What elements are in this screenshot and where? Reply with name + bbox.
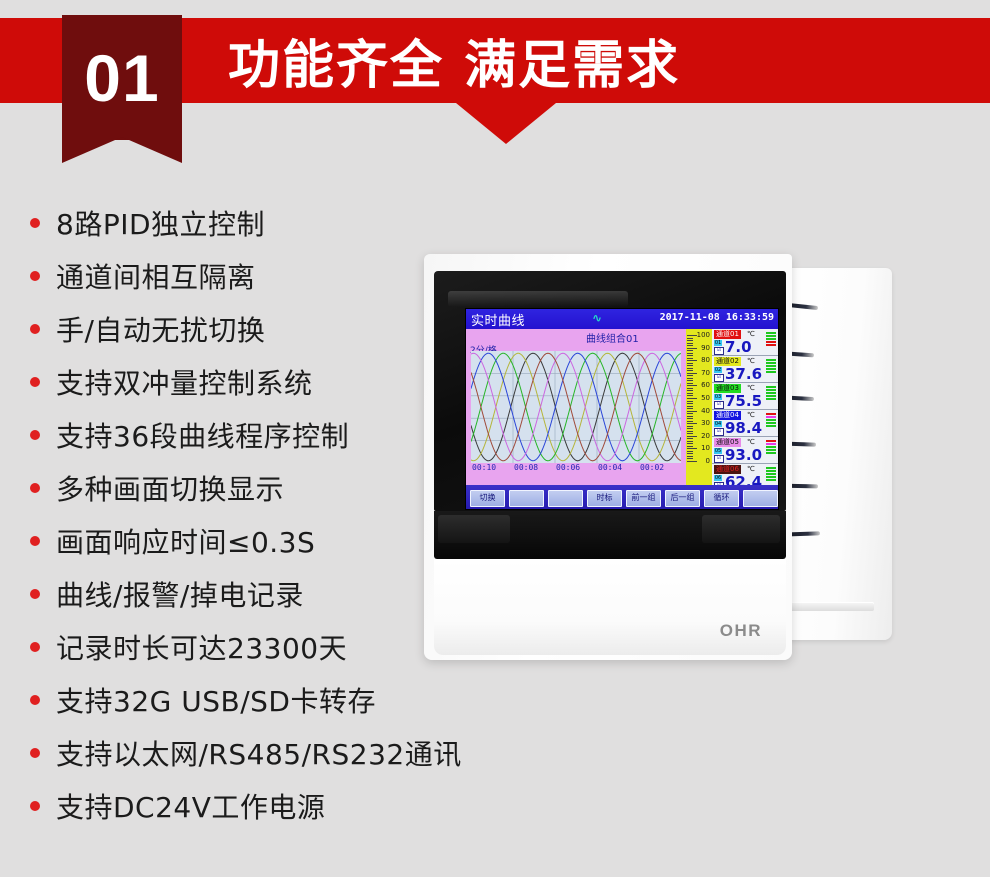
lcd-datetime: 2017-11-08 16:33:59 — [660, 312, 774, 323]
feature-item: 支持36段曲线程序控制 — [30, 408, 450, 461]
port-cover-right[interactable] — [702, 515, 780, 543]
channel-bargraph — [766, 467, 776, 482]
time-tick-label: 00:10 — [472, 463, 496, 472]
bargraph-segment — [766, 368, 776, 370]
feature-item: 曲线/报警/掉电记录 — [30, 567, 450, 620]
lcd-body: 2分/格 曲线组合01 00:1000:0800:0600:0400:02 01… — [466, 329, 778, 485]
bargraph-segment — [766, 470, 776, 472]
softkey-button-8[interactable] — [743, 490, 778, 507]
channel-value: 75.5 — [725, 392, 762, 410]
channel-bargraph — [766, 440, 776, 455]
feature-text: 支持以太网/RS485/RS232通讯 — [56, 733, 462, 773]
chart-header-band — [466, 329, 681, 351]
bargraph-segment — [766, 341, 776, 343]
ruler-minor-tick — [687, 388, 693, 389]
ruler-minor-tick — [687, 423, 693, 424]
ruler-minor-tick — [687, 353, 693, 354]
softkey-button-3[interactable] — [548, 490, 583, 507]
channel-row[interactable]: 通道02℃02☑37.6 — [712, 356, 778, 383]
channel-panel: 通道01℃01☑7.0通道02℃02☑37.6通道03℃03☑75.5通道04℃… — [712, 329, 778, 485]
channel-unit: ℃ — [747, 438, 755, 446]
channel-unit: ℃ — [747, 330, 755, 338]
bargraph-segment — [766, 452, 776, 454]
value-axis-ruler: 0102030405060708090100 — [686, 329, 712, 485]
port-cover-left[interactable] — [438, 515, 510, 543]
softkey-button-6[interactable]: 后一组 — [665, 490, 700, 507]
channel-index-badge: 03 — [714, 394, 722, 400]
ruler-minor-tick — [687, 393, 693, 394]
ruler-minor-tick — [687, 338, 693, 339]
feature-item: 支持32G USB/SD卡转存 — [30, 673, 450, 726]
bullet-dot-icon — [30, 324, 40, 334]
bargraph-segment — [766, 467, 776, 469]
bargraph-segment — [766, 473, 776, 475]
feature-item: 多种画面切换显示 — [30, 461, 450, 514]
channel-value: 98.4 — [725, 419, 762, 437]
bargraph-segment — [766, 344, 776, 346]
bargraph-segment — [766, 440, 776, 442]
ruler-minor-tick — [687, 418, 693, 419]
channel-enable-checkbox-icon[interactable]: ☑ — [714, 455, 724, 463]
channel-unit: ℃ — [747, 357, 755, 365]
ruler-tick-label: 50 — [701, 394, 710, 402]
channel-unit: ℃ — [747, 384, 755, 392]
bargraph-segment — [766, 422, 776, 424]
feature-text: 多种画面切换显示 — [56, 468, 284, 508]
feature-text: 支持双冲量控制系统 — [56, 362, 313, 402]
ruler-minor-tick — [687, 340, 693, 341]
ruler-minor-tick — [687, 358, 693, 359]
channel-row[interactable]: 通道03℃03☑75.5 — [712, 383, 778, 410]
brand-logo: OHR — [720, 621, 762, 641]
channel-index-badge: 02 — [714, 367, 722, 373]
bargraph-segment — [766, 395, 776, 397]
device-front-bezel: 实时曲线 ∿ 2017-11-08 16:33:59 2分/格 曲线组合01 0… — [424, 254, 792, 660]
lcd-screen[interactable]: 实时曲线 ∿ 2017-11-08 16:33:59 2分/格 曲线组合01 0… — [465, 308, 779, 510]
channel-value: 93.0 — [725, 446, 762, 464]
ruler-minor-tick — [687, 363, 693, 364]
ruler-minor-tick — [687, 360, 693, 361]
device-bottom-panel: OHR — [434, 559, 786, 655]
channel-bargraph — [766, 359, 776, 374]
feature-item: 支持DC24V工作电源 — [30, 779, 450, 832]
channel-index-badge: 05 — [714, 448, 722, 454]
ruler-minor-tick — [687, 448, 693, 449]
ruler-minor-tick — [687, 365, 693, 366]
feature-text: 支持32G USB/SD卡转存 — [56, 680, 376, 720]
trend-curve — [471, 353, 681, 461]
ruler-minor-tick — [687, 403, 693, 404]
feature-item: 通道间相互隔离 — [30, 249, 450, 302]
time-tick-label: 00:04 — [598, 463, 622, 472]
ruler-minor-tick — [687, 373, 693, 374]
ruler-minor-tick — [687, 348, 693, 349]
bullet-dot-icon — [30, 695, 40, 705]
ruler-minor-tick — [687, 456, 693, 457]
bargraph-segment — [766, 398, 776, 400]
feature-item: 手/自动无扰切换 — [30, 302, 450, 355]
ruler-minor-tick — [687, 431, 693, 432]
ruler-minor-tick — [687, 406, 693, 407]
channel-value: 37.6 — [725, 365, 762, 383]
feature-text: 手/自动无扰切换 — [56, 309, 265, 349]
ruler-minor-tick — [687, 343, 693, 344]
feature-text: 支持36段曲线程序控制 — [56, 415, 349, 455]
feature-item: 8路PID独立控制 — [30, 196, 450, 249]
softkey-button-2[interactable] — [509, 490, 544, 507]
trend-curve — [471, 353, 681, 461]
ruler-minor-tick — [687, 436, 693, 437]
bargraph-segment — [766, 335, 776, 337]
trend-curve — [471, 353, 681, 461]
bargraph-segment — [766, 371, 776, 373]
ruler-tick-label: 20 — [701, 432, 710, 440]
ruler-minor-tick — [687, 453, 693, 454]
ruler-minor-tick — [687, 416, 693, 417]
feature-text: 通道间相互隔离 — [56, 256, 256, 296]
channel-enable-checkbox-icon[interactable]: ☑ — [714, 401, 724, 409]
ruler-tick-label: 80 — [701, 356, 710, 364]
ruler-minor-tick — [687, 443, 693, 444]
ruler-minor-tick — [687, 433, 693, 434]
ruler-tick-label: 60 — [701, 381, 710, 389]
bargraph-segment — [766, 365, 776, 367]
display-housing: 实时曲线 ∿ 2017-11-08 16:33:59 2分/格 曲线组合01 0… — [434, 271, 786, 511]
channel-unit: ℃ — [747, 411, 755, 419]
page-title: 功能齐全 满足需求 — [228, 18, 680, 103]
bargraph-segment — [766, 332, 776, 334]
bargraph-segment — [766, 386, 776, 388]
bargraph-segment — [766, 476, 776, 478]
ruler-minor-tick — [687, 385, 693, 386]
time-tick-label: 00:08 — [514, 463, 538, 472]
ruler-minor-tick — [687, 395, 693, 396]
bargraph-segment — [766, 449, 776, 451]
softkey-button-7[interactable]: 循环 — [704, 490, 739, 507]
bullet-dot-icon — [30, 536, 40, 546]
ruler-minor-tick — [687, 441, 693, 442]
feature-text: 支持DC24V工作电源 — [56, 786, 325, 826]
channel-enable-checkbox-icon[interactable]: ☑ — [714, 428, 724, 436]
ruler-tick-label: 70 — [701, 369, 710, 377]
ruler-minor-tick — [687, 421, 693, 422]
channel-value: 7.0 — [725, 338, 752, 356]
waveform-logo-icon: ∿ — [592, 311, 602, 325]
section-number: 01 — [62, 15, 182, 140]
banner-notch — [456, 103, 556, 144]
bullet-dot-icon — [30, 218, 40, 228]
channel-index-badge: 04 — [714, 421, 722, 427]
ruler-minor-tick — [687, 458, 693, 459]
softkey-button-4[interactable]: 时标 — [587, 490, 622, 507]
feature-text: 曲线/报警/掉电记录 — [56, 574, 304, 614]
housing-gloss — [448, 291, 628, 307]
ruler-minor-tick — [687, 355, 693, 356]
ruler-tick-label: 0 — [706, 457, 710, 465]
feature-item: 画面响应时间≤0.3S — [30, 514, 450, 567]
section-ribbon-tail — [62, 137, 182, 163]
bargraph-segment — [766, 416, 776, 418]
ruler-tick-label: 100 — [697, 331, 710, 339]
bargraph-segment — [766, 338, 776, 340]
bullet-dot-icon — [30, 430, 40, 440]
ruler-minor-tick — [687, 438, 693, 439]
ruler-minor-tick — [687, 401, 693, 402]
bargraph-segment — [766, 443, 776, 445]
bargraph-segment — [766, 425, 776, 427]
trend-plot[interactable] — [471, 351, 681, 463]
ruler-minor-tick — [687, 335, 693, 336]
bullet-dot-icon — [30, 748, 40, 758]
feature-text: 画面响应时间≤0.3S — [56, 521, 315, 561]
bargraph-segment — [766, 362, 776, 364]
time-tick-label: 00:02 — [640, 463, 664, 472]
ruler-tick-label: 90 — [701, 344, 710, 352]
ruler-minor-tick — [687, 390, 693, 391]
feature-item: 支持双冲量控制系统 — [30, 355, 450, 408]
ruler-tick-label: 10 — [701, 444, 710, 452]
bullet-dot-icon — [30, 271, 40, 281]
feature-text: 记录时长可达23300天 — [56, 627, 347, 667]
bullet-dot-icon — [30, 377, 40, 387]
trend-curve — [471, 353, 681, 461]
channel-index-badge: 06 — [714, 475, 722, 481]
bullet-dot-icon — [30, 642, 40, 652]
ruler-minor-tick — [687, 408, 693, 409]
channel-bargraph — [766, 332, 776, 347]
ruler-minor-tick — [687, 413, 693, 414]
ruler-minor-tick — [687, 375, 693, 376]
ruler-minor-tick — [687, 383, 693, 384]
ruler-minor-tick — [687, 446, 693, 447]
ruler-minor-tick — [687, 345, 693, 346]
trend-curve — [471, 353, 681, 461]
ruler-minor-tick — [687, 461, 693, 462]
ruler-minor-tick — [687, 398, 693, 399]
chart-group-label: 曲线组合01 — [586, 330, 639, 345]
bargraph-segment — [766, 392, 776, 394]
channel-row[interactable]: 通道05℃05☑93.0 — [712, 437, 778, 464]
bullet-dot-icon — [30, 589, 40, 599]
bargraph-segment — [766, 419, 776, 421]
ruler-minor-tick — [687, 451, 693, 452]
ruler-minor-tick — [687, 368, 693, 369]
channel-row[interactable]: 通道01℃01☑7.0 — [712, 329, 778, 356]
ruler-tick-label: 40 — [701, 407, 710, 415]
feature-item: 支持以太网/RS485/RS232通讯 — [30, 726, 450, 779]
channel-unit: ℃ — [747, 465, 755, 473]
ruler-minor-tick — [687, 370, 693, 371]
ruler-minor-tick — [687, 428, 693, 429]
bargraph-segment — [766, 413, 776, 415]
ruler-minor-tick — [687, 350, 693, 351]
bargraph-segment — [766, 479, 776, 481]
feature-text: 8路PID独立控制 — [56, 203, 265, 243]
ruler-tick-label: 30 — [701, 419, 710, 427]
softkey-bar: 切换时标前一组后一组循环 — [466, 485, 778, 509]
channel-bargraph — [766, 386, 776, 401]
softkey-button-5[interactable]: 前一组 — [626, 490, 661, 507]
time-axis: 00:1000:0800:0600:0400:02 — [471, 463, 681, 485]
ruler-minor-tick — [687, 378, 693, 379]
lcd-screen-title: 实时曲线 — [471, 310, 525, 329]
channel-bargraph — [766, 413, 776, 428]
bargraph-segment — [766, 446, 776, 448]
ruler-minor-tick — [687, 426, 693, 427]
lcd-titlebar: 实时曲线 ∿ 2017-11-08 16:33:59 — [466, 309, 778, 329]
time-tick-label: 00:06 — [556, 463, 580, 472]
channel-index-badge: 01 — [714, 340, 722, 346]
softkey-button-1[interactable]: 切换 — [470, 490, 505, 507]
channel-row[interactable]: 通道04℃04☑98.4 — [712, 410, 778, 437]
feature-list: 8路PID独立控制通道间相互隔离手/自动无扰切换支持双冲量控制系统支持36段曲线… — [30, 196, 450, 832]
bullet-dot-icon — [30, 483, 40, 493]
feature-item: 记录时长可达23300天 — [30, 620, 450, 673]
trend-curve — [471, 353, 681, 461]
bargraph-segment — [766, 359, 776, 361]
channel-enable-checkbox-icon[interactable]: ☑ — [714, 347, 724, 355]
bargraph-segment — [766, 389, 776, 391]
ruler-minor-tick — [687, 411, 693, 412]
channel-enable-checkbox-icon[interactable]: ☑ — [714, 374, 724, 382]
ruler-minor-tick — [687, 380, 693, 381]
device-illustration: 实时曲线 ∿ 2017-11-08 16:33:59 2分/格 曲线组合01 0… — [424, 254, 892, 674]
header-banner: 01 功能齐全 满足需求 — [0, 18, 990, 144]
trend-curves — [471, 351, 681, 463]
bullet-dot-icon — [30, 801, 40, 811]
